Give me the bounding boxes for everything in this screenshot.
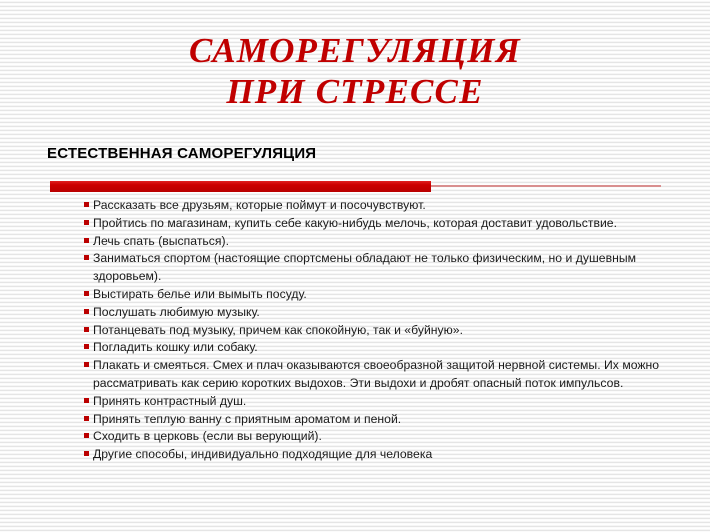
square-bullet-icon: [84, 344, 89, 349]
list-item-label: Сходить в церковь (если вы верующий).: [93, 428, 692, 446]
list-item: Погладить кошку или собаку.: [84, 339, 692, 357]
list-item-label: Принять теплую ванну с приятным ароматом…: [93, 411, 692, 429]
bullet-list: Рассказать все друзьям, которые поймут и…: [84, 197, 692, 464]
square-bullet-icon: [84, 202, 89, 207]
title-line-1: САМОРЕГУЛЯЦИЯ: [0, 30, 710, 71]
divider-thick-segment: [50, 181, 431, 192]
list-item: Рассказать все друзьям, которые поймут и…: [84, 197, 692, 215]
square-bullet-icon: [84, 416, 89, 421]
square-bullet-icon: [84, 255, 89, 260]
list-item-label: Потанцевать под музыку, причем как споко…: [93, 322, 692, 340]
list-item: Заниматься спортом (настоящие спортсмены…: [84, 250, 692, 286]
list-item-label: Погладить кошку или собаку.: [93, 339, 692, 357]
list-item: Пройтись по магазинам, купить себе какую…: [84, 215, 692, 233]
list-item: Лечь спать (выспаться).: [84, 233, 692, 251]
title-line-2: ПРИ СТРЕССЕ: [0, 71, 710, 112]
divider-thin-segment: [431, 185, 661, 187]
list-item-label: Лечь спать (выспаться).: [93, 233, 692, 251]
list-item: Плакать и смеяться. Смех и плач оказываю…: [84, 357, 692, 393]
square-bullet-icon: [84, 433, 89, 438]
square-bullet-icon: [84, 238, 89, 243]
list-item-label: Рассказать все друзьям, которые поймут и…: [93, 197, 692, 215]
square-bullet-icon: [84, 451, 89, 456]
list-item-label: Пройтись по магазинам, купить себе какую…: [93, 215, 692, 233]
square-bullet-icon: [84, 220, 89, 225]
list-item-label: Плакать и смеяться. Смех и плач оказываю…: [93, 357, 692, 393]
list-item-label: Послушать любимую музыку.: [93, 304, 692, 322]
list-item-label: Заниматься спортом (настоящие спортсмены…: [93, 250, 692, 286]
square-bullet-icon: [84, 398, 89, 403]
list-item: Выстирать белье или вымыть посуду.: [84, 286, 692, 304]
presentation-slide: САМОРЕГУЛЯЦИЯ ПРИ СТРЕССЕ ЕСТЕСТВЕННАЯ С…: [0, 0, 710, 532]
list-item-label: Принять контрастный душ.: [93, 393, 692, 411]
list-item: Принять контрастный душ.: [84, 393, 692, 411]
list-item: Сходить в церковь (если вы верующий).: [84, 428, 692, 446]
list-item: Другие способы, индивидуально подходящие…: [84, 446, 692, 464]
list-item: Принять теплую ванну с приятным ароматом…: [84, 411, 692, 429]
square-bullet-icon: [84, 327, 89, 332]
section-heading: ЕСТЕСТВЕННАЯ САМОРЕГУЛЯЦИЯ: [47, 145, 316, 163]
square-bullet-icon: [84, 309, 89, 314]
slide-title: САМОРЕГУЛЯЦИЯ ПРИ СТРЕССЕ: [0, 30, 710, 112]
square-bullet-icon: [84, 362, 89, 367]
list-item-label: Другие способы, индивидуально подходящие…: [93, 446, 692, 464]
list-item: Послушать любимую музыку.: [84, 304, 692, 322]
square-bullet-icon: [84, 291, 89, 296]
list-item: Потанцевать под музыку, причем как споко…: [84, 322, 692, 340]
red-divider-bar: [50, 181, 661, 192]
list-item-label: Выстирать белье или вымыть посуду.: [93, 286, 692, 304]
